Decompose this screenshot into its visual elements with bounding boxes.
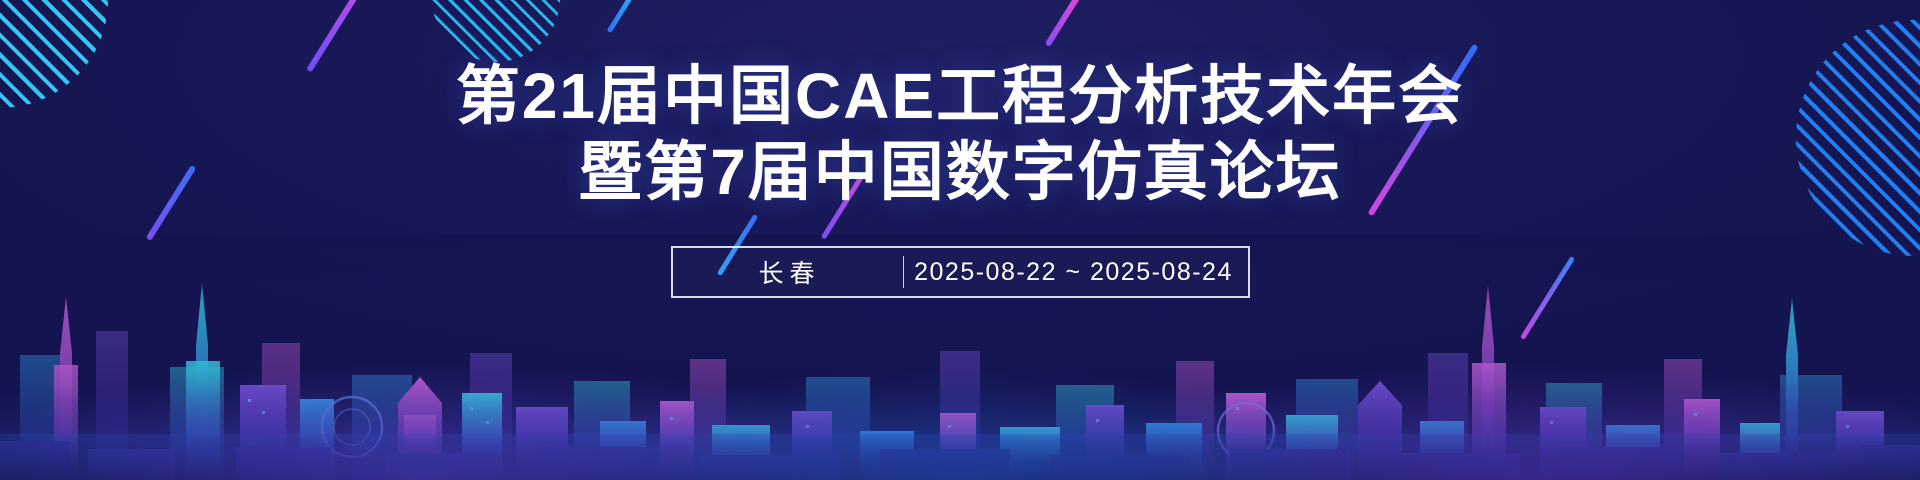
- title-line-secondary: 暨第7届中国数字仿真论坛: [456, 136, 1464, 208]
- conference-banner: 第21届中国CAE工程分析技术年会 暨第7届中国数字仿真论坛 长春 2025-0…: [0, 0, 1920, 480]
- event-location: 长春: [677, 248, 903, 296]
- title-line-primary: 第21届中国CAE工程分析技术年会: [456, 60, 1464, 132]
- event-date-range: 2025-08-22 ~ 2025-08-24: [904, 248, 1244, 296]
- event-info-box: 长春 2025-08-22 ~ 2025-08-24: [671, 246, 1250, 298]
- banner-title: 第21届中国CAE工程分析技术年会 暨第7届中国数字仿真论坛: [456, 60, 1464, 208]
- banner-content: 第21届中国CAE工程分析技术年会 暨第7届中国数字仿真论坛 长春 2025-0…: [0, 0, 1920, 480]
